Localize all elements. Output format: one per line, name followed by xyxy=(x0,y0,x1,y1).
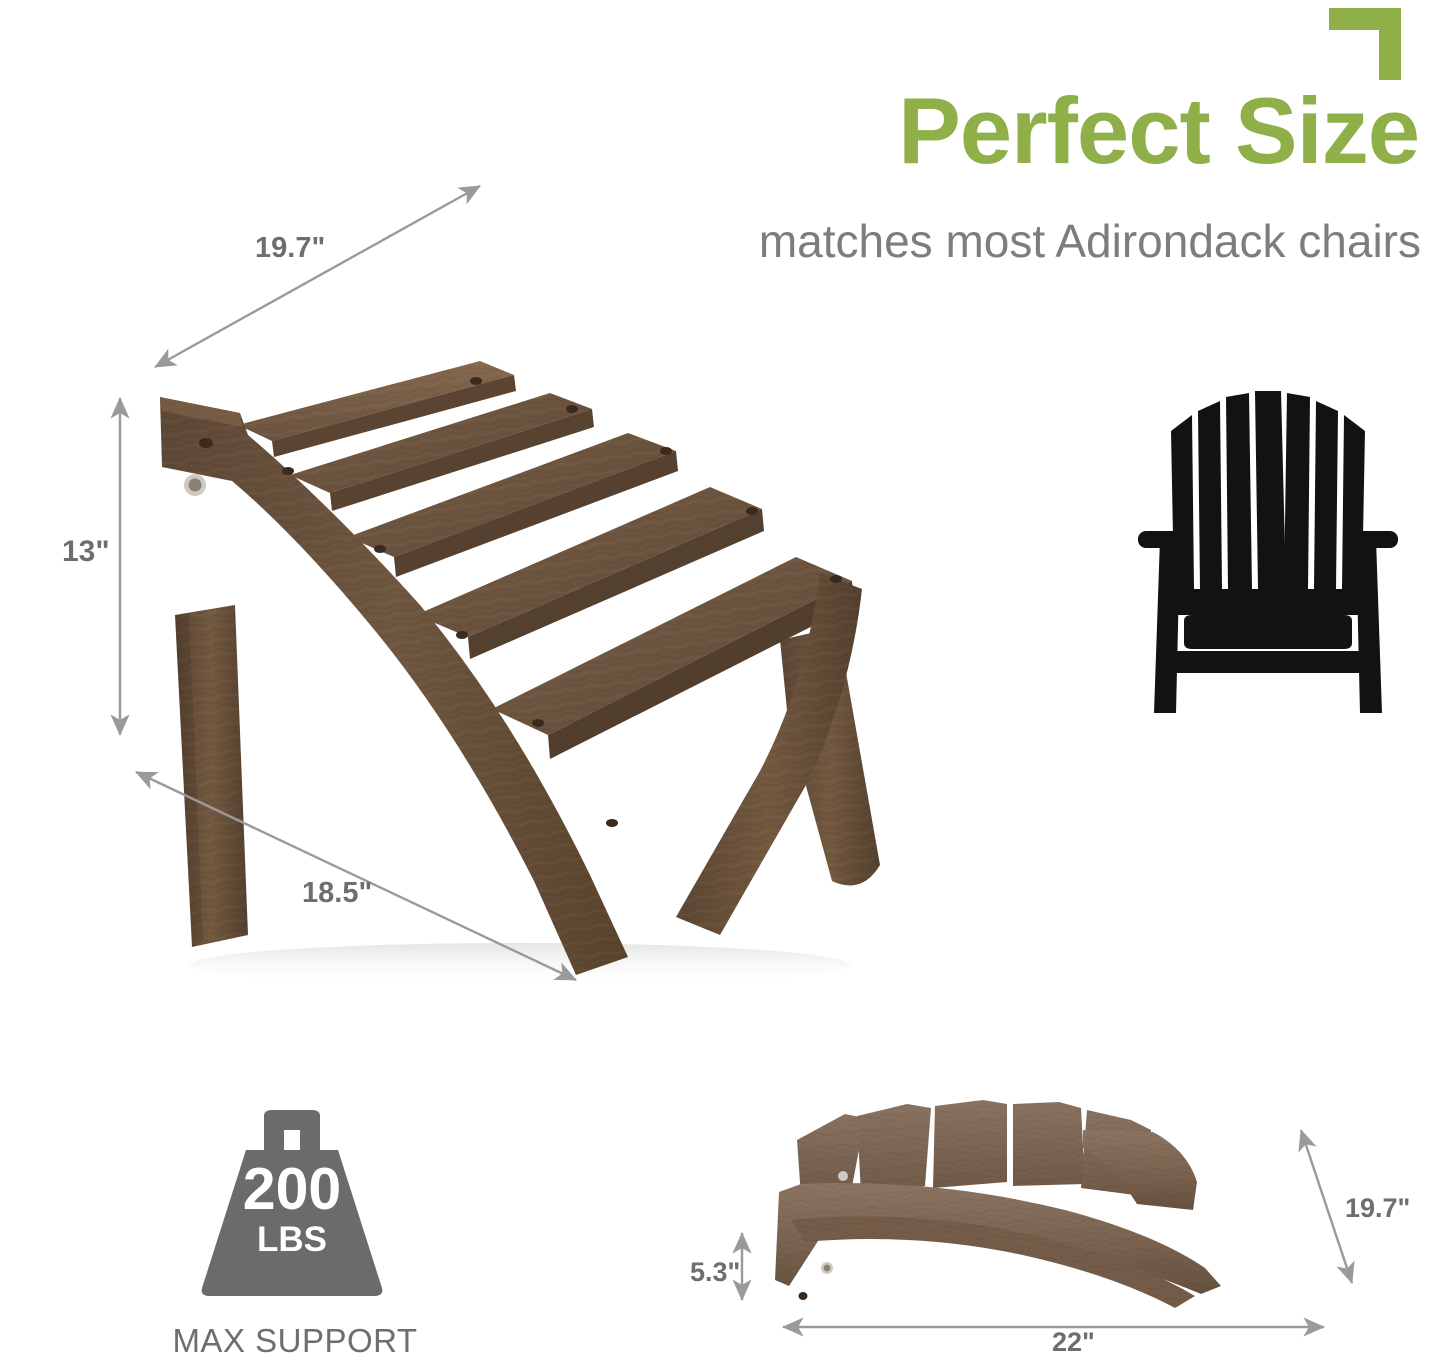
ottoman-bolt-cap xyxy=(184,474,206,496)
folded-slat xyxy=(1013,1102,1085,1186)
max-support-caption: MAX SUPPORT xyxy=(150,1322,440,1360)
adirondack-chair-svg xyxy=(1118,383,1418,728)
dim-label-depth-bottom: 18.5" xyxy=(302,877,372,910)
ottoman-folded-svg xyxy=(735,1100,1295,1330)
corner-bracket-icon xyxy=(1329,8,1401,80)
ottoman-perspective-svg xyxy=(120,175,940,995)
dim-label-width-top: 19.7" xyxy=(255,232,325,265)
weight-badge-unit: LBS xyxy=(176,1222,408,1257)
corner-bracket-vertical-bar xyxy=(1379,8,1401,80)
adirondack-chair-silhouette-icon xyxy=(1118,383,1418,728)
ottoman-leg-rear-left xyxy=(175,605,248,947)
folded-slat xyxy=(933,1100,1007,1188)
dim-label-folded-length: 22" xyxy=(1052,1327,1095,1358)
dim-label-folded-height: 19.7" xyxy=(1345,1193,1410,1224)
page-title: Perfect Size xyxy=(898,84,1419,178)
ottoman-perspective-image xyxy=(120,175,940,995)
folded-slat xyxy=(857,1104,931,1194)
weight-badge-value: 200 xyxy=(176,1160,408,1219)
dim-label-height-left: 13" xyxy=(62,535,110,569)
infographic-canvas: Perfect Size matches most Adirondack cha… xyxy=(0,0,1451,1369)
ottoman-folded-image xyxy=(735,1100,1295,1330)
dim-label-folded-thickness: 5.3" xyxy=(690,1257,740,1288)
